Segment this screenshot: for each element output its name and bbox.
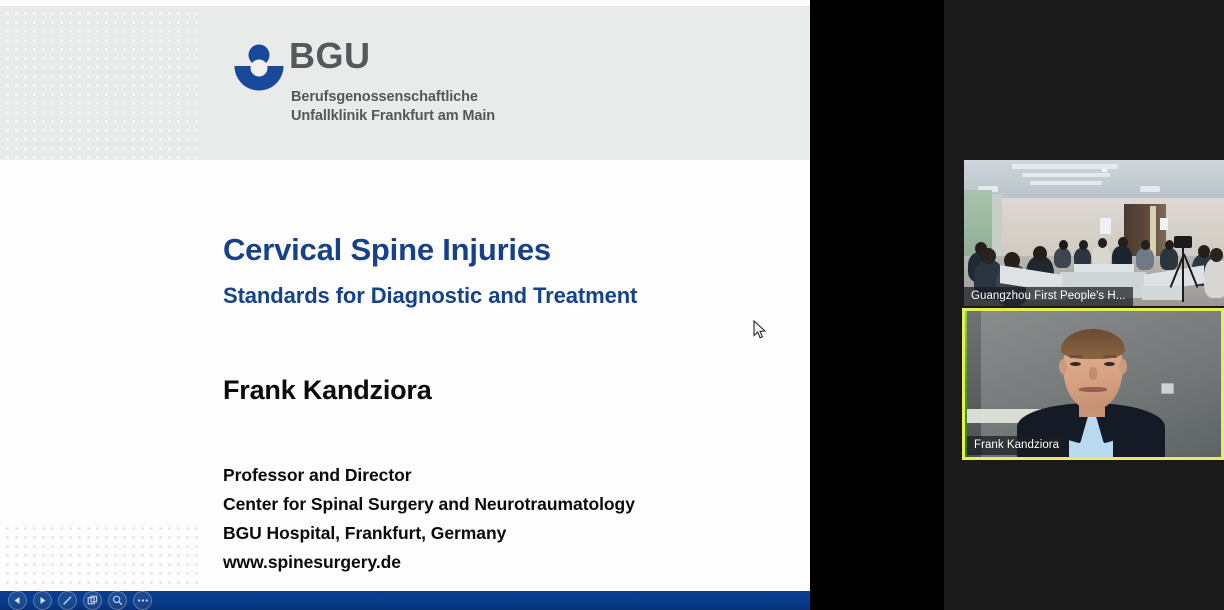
magnifier-icon: [112, 595, 123, 606]
wall-switch: [1161, 383, 1174, 394]
affiliation-line-4: www.spinesurgery.de: [223, 548, 635, 577]
logo-subtitle-line1: Berufsgenossenschaftliche: [291, 88, 495, 107]
meeting-window: BGU Berufsgenossenschaftliche Unfallklin…: [0, 0, 1224, 610]
logo-acronym: BGU: [289, 38, 371, 74]
pen-icon: [62, 595, 73, 606]
affiliation-line-2: Center for Spinal Surgery and Neurotraum…: [223, 490, 635, 519]
presenter-affiliation: Professor and Director Center for Spinal…: [223, 461, 635, 577]
slide-title: Cervical Spine Injuries: [223, 232, 551, 268]
ellipsis-icon: [137, 598, 149, 603]
conference-room-scene: [964, 160, 1224, 306]
presentation-view-button[interactable]: [83, 591, 102, 610]
video-tile-label: Frank Kandziora: [967, 436, 1066, 455]
triangle-left-icon: [13, 596, 22, 605]
affiliation-line-1: Professor and Director: [223, 461, 635, 490]
video-tile-active-speaker[interactable]: Frank Kandziora: [962, 308, 1224, 460]
windows-icon: [87, 595, 98, 606]
dot-pattern-top-left: [0, 6, 203, 160]
zoom-button[interactable]: [108, 591, 127, 610]
bgu-logo: BGU Berufsgenossenschaftliche Unfallklin…: [233, 42, 563, 127]
triangle-right-icon: [38, 596, 47, 605]
video-feed-presenter: Frank Kandziora: [965, 311, 1221, 457]
dot-pattern-bottom-left: [0, 521, 203, 587]
slide-subtitle: Standards for Diagnostic and Treatment: [223, 283, 637, 309]
mouse-cursor-icon: [753, 320, 767, 340]
presenter-name: Frank Kandziora: [223, 375, 432, 406]
more-options-button[interactable]: [133, 591, 152, 610]
bgu-logo-mark-icon: [233, 44, 285, 94]
video-rail: Guangzhou First People's H...: [944, 0, 1224, 610]
video-tile-label: Guangzhou First People's H...: [964, 287, 1133, 306]
affiliation-line-3: BGU Hospital, Frankfurt, Germany: [223, 519, 635, 548]
video-feed-conference-room: Guangzhou First People's H...: [964, 160, 1224, 306]
next-slide-button[interactable]: [33, 591, 52, 610]
logo-subtitle-line2: Unfallklinik Frankfurt am Main: [291, 107, 495, 126]
logo-subtitle: Berufsgenossenschaftliche Unfallklinik F…: [291, 88, 495, 125]
annotate-button[interactable]: [58, 591, 77, 610]
presentation-toolbar[interactable]: [0, 591, 810, 610]
previous-slide-button[interactable]: [8, 591, 27, 610]
shared-slide[interactable]: BGU Berufsgenossenschaftliche Unfallklin…: [0, 0, 810, 591]
video-tile[interactable]: Guangzhou First People's H...: [964, 160, 1224, 306]
